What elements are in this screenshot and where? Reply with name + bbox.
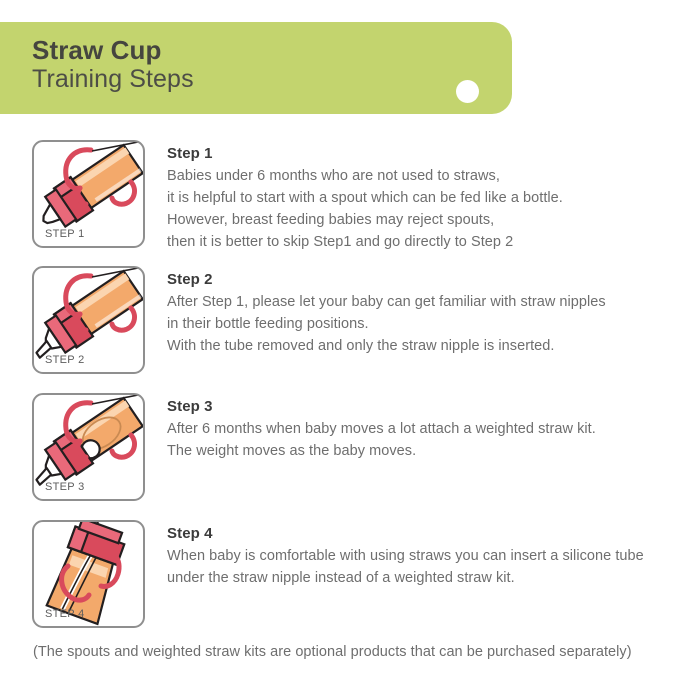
step-3-line-2: The weight moves as the baby moves. <box>167 440 667 462</box>
step-1-text: Step 1 Babies under 6 months who are not… <box>167 144 667 253</box>
step-3-line-1: After 6 months when baby moves a lot att… <box>167 418 667 440</box>
step-1-figure-label: STEP 1 <box>45 228 85 240</box>
step-1-line-4: then it is better to skip Step1 and go d… <box>167 231 667 253</box>
step-4-figure: STEP 4 <box>32 520 145 628</box>
step-2-line-3: With the tube removed and only the straw… <box>167 335 667 357</box>
step-3-figure-label: STEP 3 <box>45 481 85 493</box>
step-2-figure-label: STEP 2 <box>45 354 85 366</box>
step-1-line-1: Babies under 6 months who are not used t… <box>167 165 667 187</box>
footer-note: (The spouts and weighted straw kits are … <box>33 644 632 660</box>
step-2-heading: Step 2 <box>167 270 667 290</box>
step-1-line-2: it is helpful to start with a spout whic… <box>167 187 667 209</box>
step-1-heading: Step 1 <box>167 144 667 164</box>
step-2-line-1: After Step 1, please let your baby can g… <box>167 291 667 313</box>
step-3-figure: STEP 3 <box>32 393 145 501</box>
page-title: Straw Cup <box>32 36 161 65</box>
step-1-line-3: However, breast feeding babies may rejec… <box>167 209 667 231</box>
step-4-line-2: under the straw nipple instead of a weig… <box>167 567 667 589</box>
step-2-text: Step 2 After Step 1, please let your bab… <box>167 270 667 357</box>
step-3-heading: Step 3 <box>167 397 667 417</box>
header-banner: Straw Cup Training Steps <box>0 22 512 114</box>
step-4-figure-label: STEP 4 <box>45 608 85 620</box>
step-4-heading: Step 4 <box>167 524 667 544</box>
step-3-text: Step 3 After 6 months when baby moves a … <box>167 397 667 462</box>
step-4-line-1: When baby is comfortable with using stra… <box>167 545 667 567</box>
page-subtitle: Training Steps <box>32 66 194 94</box>
punch-hole-icon <box>456 80 479 103</box>
step-2-figure: STEP 2 <box>32 266 145 374</box>
step-1-figure: STEP 1 <box>32 140 145 248</box>
step-4-text: Step 4 When baby is comfortable with usi… <box>167 524 667 589</box>
step-2-line-2: in their bottle feeding positions. <box>167 313 667 335</box>
